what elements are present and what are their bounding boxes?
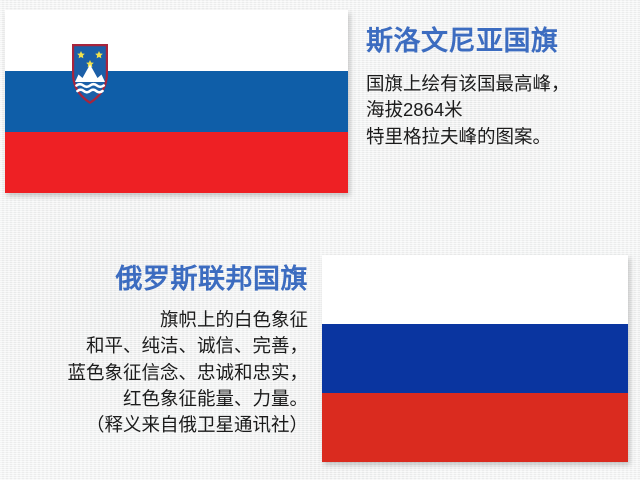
slovenia-description-line: 国旗上绘有该国最高峰， [366, 71, 632, 97]
russia-description-line: 红色象征能量、力量。 [10, 386, 308, 412]
slovenia-flag-stripe-white [5, 10, 348, 71]
russia-description: 旗帜上的白色象征 和平、纯洁、诚信、完善， 蓝色象征信念、忠诚和忠实， 红色象征… [10, 307, 312, 438]
russia-text-block: 俄罗斯联邦国旗 旗帜上的白色象征 和平、纯洁、诚信、完善， 蓝色象征信念、忠诚和… [10, 266, 312, 438]
slovenia-description-line: 特里格拉夫峰的图案。 [366, 124, 632, 150]
slovenia-flag-stripe-blue [5, 71, 348, 132]
russia-description-line: 蓝色象征信念、忠诚和忠实， [10, 360, 308, 386]
russia-flag-stripe-red [322, 393, 628, 462]
russia-flag [322, 255, 628, 462]
slovenia-description-line: 海拔2864米 [366, 97, 632, 123]
slovenia-description: 国旗上绘有该国最高峰， 海拔2864米 特里格拉夫峰的图案。 [366, 71, 632, 150]
slovenia-coat-of-arms-icon [70, 40, 110, 106]
russia-description-line: 旗帜上的白色象征 [10, 307, 308, 333]
slovenia-text-block: 斯洛文尼亚国旗 国旗上绘有该国最高峰， 海拔2864米 特里格拉夫峰的图案。 [366, 28, 632, 150]
russia-description-line: 和平、纯洁、诚信、完善， [10, 333, 308, 359]
russia-title: 俄罗斯联邦国旗 [10, 266, 312, 293]
slovenia-flag [5, 10, 348, 193]
slovenia-title: 斯洛文尼亚国旗 [366, 28, 632, 55]
slovenia-flag-stripe-red [5, 132, 348, 193]
russia-description-line: （释义来自俄卫星通讯社） [10, 412, 308, 438]
russia-flag-stripe-white [322, 255, 628, 324]
russia-flag-stripe-blue [322, 324, 628, 393]
